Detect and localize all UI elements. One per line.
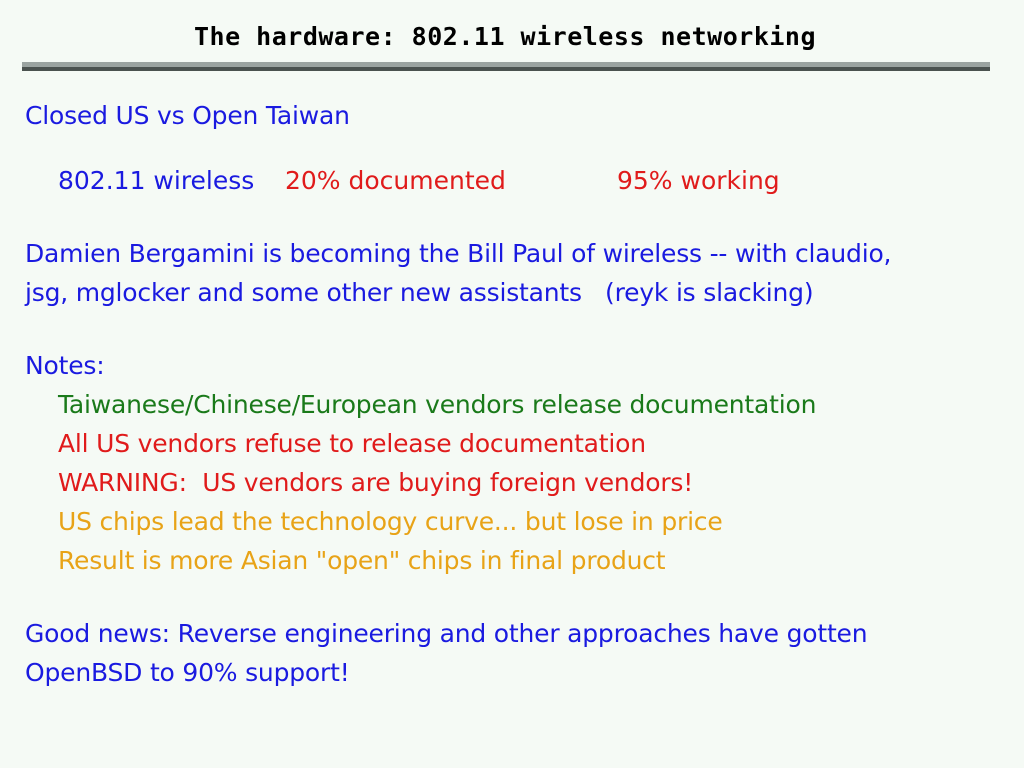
section-heading: Closed US vs Open Taiwan [0, 96, 1024, 135]
notes-item: Result is more Asian "open" chips in fin… [0, 541, 1024, 580]
metric-label: 802.11 wireless [58, 161, 254, 200]
metric-row: 802.11 wireless 20% documented 95% worki… [0, 161, 1024, 200]
paragraph-line-1: Damien Bergamini is becoming the Bill Pa… [0, 234, 1024, 273]
divider-shadow [22, 67, 990, 71]
slide-body: Closed US vs Open Taiwan 802.11 wireless… [0, 96, 1024, 692]
spacer [0, 312, 1024, 346]
metric-documented: 20% documented [285, 161, 506, 200]
notes-item: Taiwanese/Chinese/European vendors relea… [0, 385, 1024, 424]
notes-item: All US vendors refuse to release documen… [0, 424, 1024, 463]
notes-heading: Notes: [0, 346, 1024, 385]
conclusion-line-2: OpenBSD to 90% support! [0, 653, 1024, 692]
presentation-slide: The hardware: 802.11 wireless networking… [0, 0, 1024, 768]
title-divider [22, 62, 990, 71]
conclusion-line-1: Good news: Reverse engineering and other… [0, 614, 1024, 653]
notes-item: US chips lead the technology curve... bu… [0, 502, 1024, 541]
notes-item: WARNING: US vendors are buying foreign v… [0, 463, 1024, 502]
metric-working: 95% working [617, 161, 780, 200]
spacer [0, 135, 1024, 161]
page-title: The hardware: 802.11 wireless networking [0, 22, 1010, 51]
spacer [0, 200, 1024, 234]
paragraph-line-2: jsg, mglocker and some other new assista… [0, 273, 1024, 312]
spacer [0, 580, 1024, 614]
